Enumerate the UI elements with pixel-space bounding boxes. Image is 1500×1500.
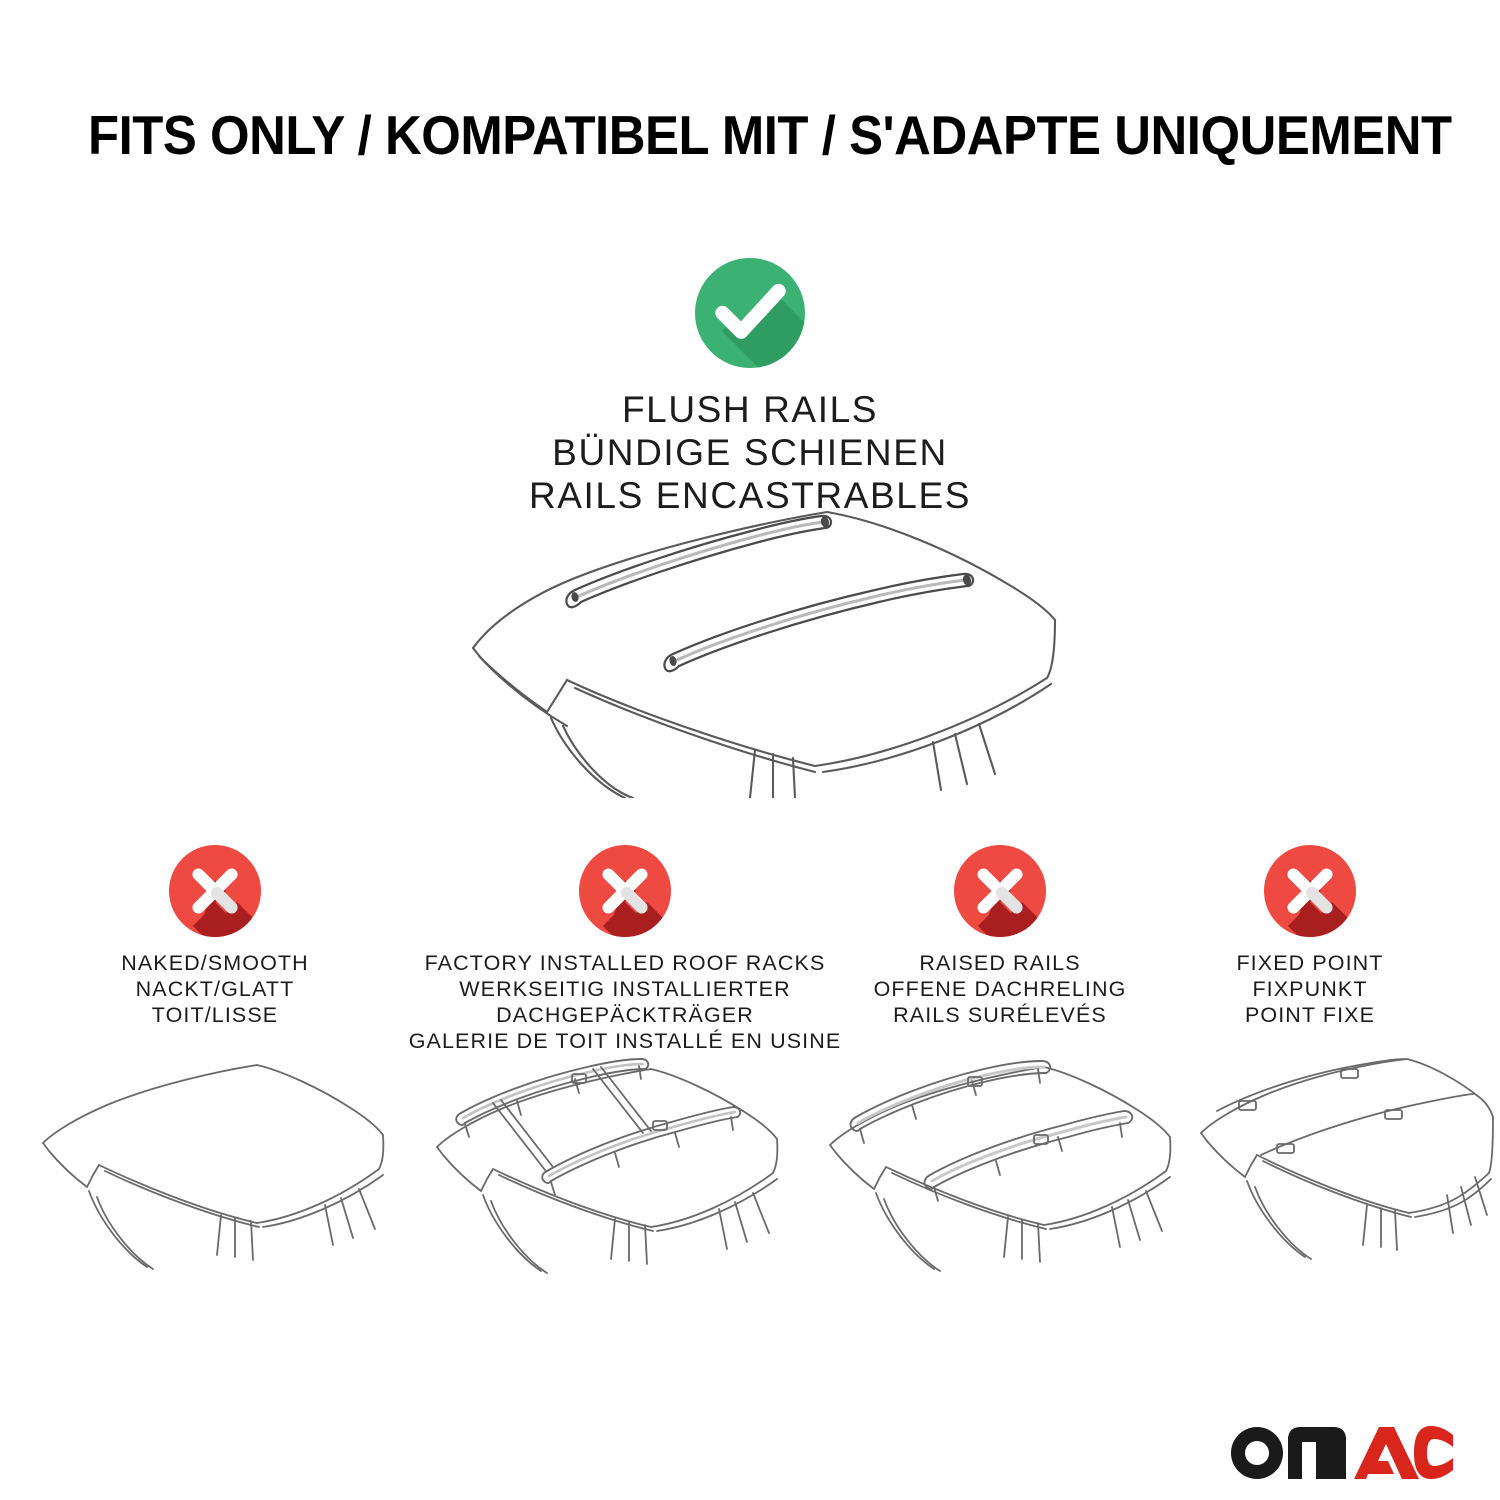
- label-fr: GALERIE DE TOIT INSTALLÉ EN USINE: [385, 1028, 865, 1054]
- label-en: RAISED RAILS: [845, 950, 1155, 976]
- incompatible-item-raised-rails: RAISED RAILS OFFENE DACHRELING RAILS SUR…: [845, 845, 1155, 1028]
- label-en: FACTORY INSTALLED ROOF RACKS: [385, 950, 865, 976]
- incompatible-section: NAKED/SMOOTH NACKT/GLATT TOIT/LISSE: [0, 845, 1500, 1075]
- incompatible-illustrations: [0, 1055, 1500, 1325]
- red-x-circle-icon: [954, 845, 1046, 937]
- red-x-circle-icon: [169, 845, 261, 937]
- incompatible-labels: RAISED RAILS OFFENE DACHRELING RAILS SUR…: [845, 950, 1155, 1028]
- label-de-1: WERKSEITIG INSTALLIERTER: [385, 976, 865, 1002]
- label-fr: TOIT/LISSE: [45, 1002, 385, 1028]
- incompatible-labels: NAKED/SMOOTH NACKT/GLATT TOIT/LISSE: [45, 950, 385, 1028]
- label-fr: POINT FIXE: [1160, 1002, 1460, 1028]
- logo-letter-o: [1231, 1427, 1283, 1479]
- logo-letter-a: [1354, 1427, 1419, 1479]
- label-de-2: DACHGEPÄCKTRÄGER: [385, 1002, 865, 1028]
- fitment-infographic: FITS ONLY / KOMPATIBEL MIT / S'ADAPTE UN…: [0, 0, 1500, 1500]
- red-x-circle-icon: [1264, 845, 1356, 937]
- compatible-label-de: BÜNDIGE SCHIENEN: [0, 431, 1500, 474]
- car-roof-factory-racks-diagram: [425, 1055, 815, 1320]
- compatible-section: FLUSH RAILS BÜNDIGE SCHIENEN RAILS ENCAS…: [0, 258, 1500, 517]
- car-roof-fixed-point-diagram: [1195, 1055, 1495, 1320]
- logo-letter-m: [1288, 1427, 1346, 1479]
- car-roof-naked-smooth-diagram: [35, 1055, 415, 1320]
- red-x-circle-icon: [579, 845, 671, 937]
- label-de: OFFENE DACHRELING: [845, 976, 1155, 1002]
- logo-letter-c: [1414, 1426, 1453, 1479]
- label-en: NAKED/SMOOTH: [45, 950, 385, 976]
- omac-logo: [1228, 1418, 1453, 1480]
- incompatible-item-factory-roof-racks: FACTORY INSTALLED ROOF RACKS WERKSEITIG …: [385, 845, 865, 1054]
- label-en: FIXED POINT: [1160, 950, 1460, 976]
- label-fr: RAILS SURÉLEVÉS: [845, 1002, 1155, 1028]
- incompatible-item-naked-smooth: NAKED/SMOOTH NACKT/GLATT TOIT/LISSE: [45, 845, 385, 1028]
- label-de: FIXPUNKT: [1160, 976, 1460, 1002]
- green-check-circle-icon: [695, 258, 805, 368]
- car-roof-raised-rails-diagram: [820, 1055, 1195, 1320]
- incompatible-labels: FACTORY INSTALLED ROOF RACKS WERKSEITIG …: [385, 950, 865, 1054]
- compatible-label-en: FLUSH RAILS: [0, 388, 1500, 431]
- label-de: NACKT/GLATT: [45, 976, 385, 1002]
- car-roof-flush-rails-diagram: [455, 498, 1065, 798]
- incompatible-item-fixed-point: FIXED POINT FIXPUNKT POINT FIXE: [1160, 845, 1460, 1028]
- incompatible-labels: FIXED POINT FIXPUNKT POINT FIXE: [1160, 950, 1460, 1028]
- page-title: FITS ONLY / KOMPATIBEL MIT / S'ADAPTE UN…: [88, 104, 1452, 166]
